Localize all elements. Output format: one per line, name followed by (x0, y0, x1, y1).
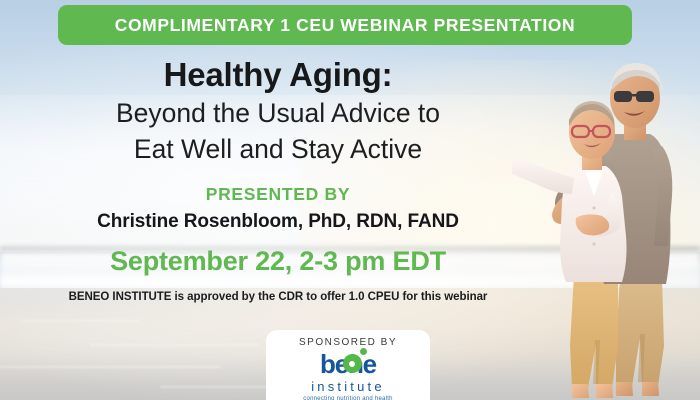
page-subtitle-line-2: Eat Well and Stay Active (0, 133, 556, 165)
presenter-name: Christine Rosenbloom, PhD, RDN, FAND (0, 211, 556, 233)
presented-by-label: PRESENTED BY (0, 184, 556, 205)
content-block: Healthy Aging: Beyond the Usual Advice t… (0, 52, 556, 303)
page-subtitle-line-1: Beyond the Usual Advice to (0, 97, 556, 129)
beneo-institute-label: institute (266, 379, 430, 394)
accreditation-statement: BENEO INSTITUTE is approved by the CDR t… (0, 291, 556, 303)
sponsor-card: SPONSORED BY bene institute connecting n… (266, 330, 430, 400)
beneo-institute-logo: bene institute connecting nutrition and … (266, 348, 430, 396)
beneo-dot-icon (360, 348, 367, 355)
webinar-promo-banner: COMPLIMENTARY 1 CEU WEBINAR PRESENTATION… (0, 0, 700, 400)
cue-badge-label: COMPLIMENTARY 1 CEU WEBINAR PRESENTATION (115, 15, 576, 36)
cue-badge: COMPLIMENTARY 1 CEU WEBINAR PRESENTATION (58, 5, 632, 45)
page-title: Healthy Aging: (0, 58, 556, 93)
beneo-leaf-highlight-icon (349, 361, 355, 367)
beneo-tagline: connecting nutrition and health (266, 396, 430, 400)
webinar-datetime: September 22, 2-3 pm EDT (0, 246, 556, 277)
sponsored-by-label: SPONSORED BY (266, 337, 430, 348)
